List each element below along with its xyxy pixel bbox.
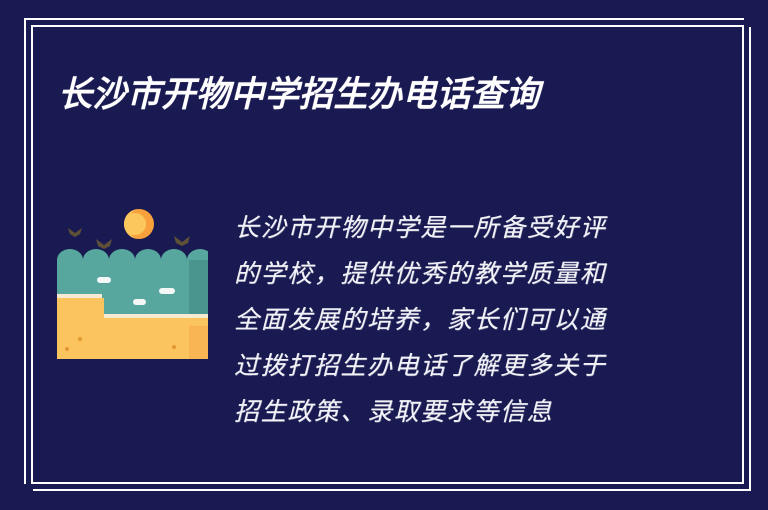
sun-icon bbox=[124, 209, 154, 239]
body-paragraph: 长沙市开物中学是一所备受好评 的学校，提供优秀的教学质量和 全面发展的培养，家长… bbox=[234, 205, 680, 435]
beach-sunset-illustration bbox=[57, 202, 208, 359]
body-line: 全面发展的培养，家长们可以通 bbox=[234, 297, 680, 343]
poster-canvas: 长沙市开物中学招生办电话查询 bbox=[0, 0, 768, 510]
body-line: 招生政策、录取要求等信息 bbox=[234, 389, 680, 435]
body-line: 过拨打招生办电话了解更多关于 bbox=[234, 343, 680, 389]
frame-corner-mask-bottom-left bbox=[0, 484, 33, 510]
page-title: 长沙市开物中学招生办电话查询 bbox=[58, 66, 540, 117]
sand-shadow bbox=[189, 326, 208, 359]
frame-corner-mask-top-right bbox=[744, 0, 768, 27]
body-line: 的学校，提供优秀的教学质量和 bbox=[234, 251, 680, 297]
body-line: 长沙市开物中学是一所备受好评 bbox=[234, 205, 680, 251]
